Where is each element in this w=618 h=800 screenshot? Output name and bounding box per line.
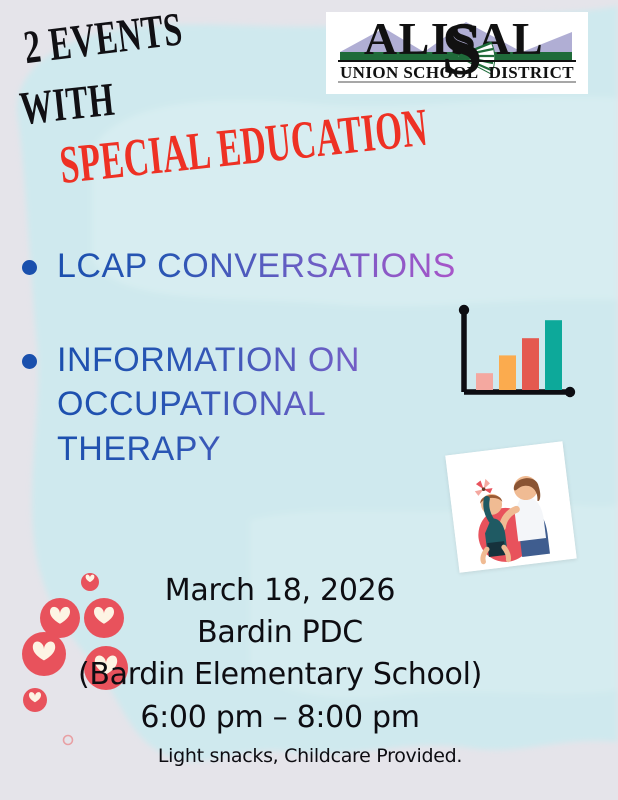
district-logo: ALISAL S UNION SCHOOL DISTRICT (326, 12, 588, 94)
bullet-label-occupational-therapy: INFORMATION ON OCCUPATIONAL THERAPY (57, 338, 492, 471)
flyer-poster: 2 EVENTS WITH SPECIAL EDUCATION ALISAL (0, 0, 618, 800)
event-details: March 18, 2026 Bardin PDC (Bardin Elemen… (0, 572, 560, 769)
bullet-dot-icon (22, 260, 37, 275)
event-venue-detail: (Bardin Elementary School) (0, 656, 560, 694)
axis-cap-top (459, 305, 469, 315)
list-item: LCAP CONVERSATIONS (22, 244, 492, 288)
chart-bars (476, 320, 562, 390)
bar-chart-graphic (450, 300, 580, 405)
logo-subtitle-left: UNION SCHOOL (340, 63, 478, 82)
event-note: Light snacks, Childcare Provided. (0, 745, 560, 769)
event-date: March 18, 2026 (0, 572, 560, 610)
chart-bar-2 (499, 355, 516, 390)
chart-bar-4 (545, 320, 562, 390)
event-bullet-list: LCAP CONVERSATIONS INFORMATION ON OCCUPA… (22, 244, 492, 471)
list-item: INFORMATION ON OCCUPATIONAL THERAPY (22, 338, 492, 471)
chart-bar-1 (476, 373, 493, 390)
bullet-dot-icon (22, 354, 37, 369)
chart-bar-3 (522, 338, 539, 390)
event-time: 6:00 pm – 8:00 pm (0, 699, 560, 737)
occupational-therapy-photo-card (445, 441, 577, 573)
axis-cap-right (565, 387, 575, 397)
bullet-label-lcap: LCAP CONVERSATIONS (57, 244, 456, 288)
event-venue: Bardin PDC (0, 614, 560, 652)
logo-subtitle-right: DISTRICT (489, 63, 575, 82)
